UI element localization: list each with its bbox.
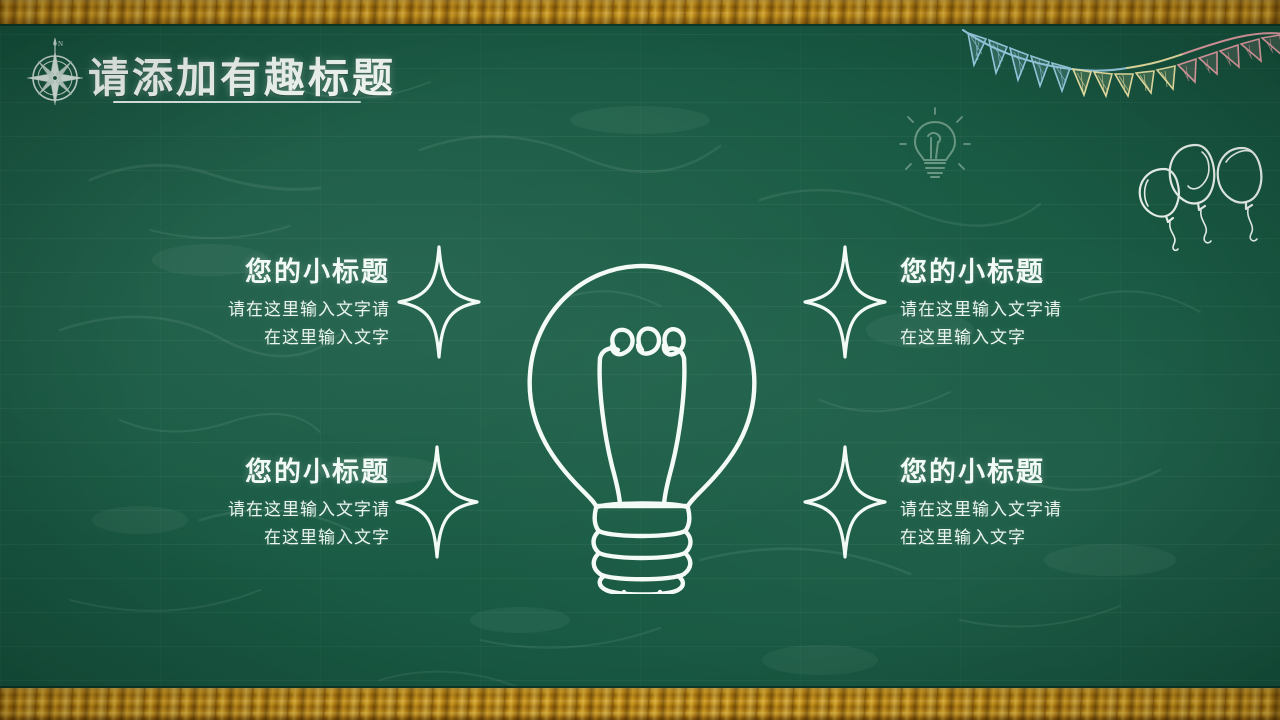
small-lightbulb-doodle-icon [898,106,972,182]
slide-canvas: N 请添加有趣标题 [0,0,1280,720]
block-body-line: 请在这里输入文字请 [900,496,1130,524]
lightbulb-icon [508,258,776,594]
svg-text:N: N [58,40,63,48]
block-heading: 您的小标题 [160,250,390,289]
title-underline [113,101,361,103]
bunting-flags-icon [955,22,1280,114]
block-heading: 您的小标题 [160,450,390,489]
text-block-bottom-right: 您的小标题 请在这里输入文字请 在这里输入文字 [900,450,1130,551]
text-block-bottom-left: 您的小标题 请在这里输入文字请 在这里输入文字 [160,450,390,551]
block-body-line: 请在这里输入文字请 [160,496,390,524]
page-title: 请添加有趣标题 [88,44,396,104]
compass-rose-icon: N [22,34,88,106]
block-heading: 您的小标题 [900,250,1130,289]
four-point-star-icon [802,244,888,360]
text-block-top-right: 您的小标题 请在这里输入文字请 在这里输入文字 [900,250,1130,351]
block-body-line: 在这里输入文字 [900,324,1130,352]
block-body-line: 请在这里输入文字请 [160,296,390,324]
block-body-line: 在这里输入文字 [160,324,390,352]
four-point-star-icon [802,444,888,560]
text-block-top-left: 您的小标题 请在这里输入文字请 在这里输入文字 [160,250,390,351]
block-body-line: 在这里输入文字 [160,524,390,552]
four-point-star-icon [396,244,482,360]
four-point-star-icon [394,444,480,560]
block-heading: 您的小标题 [900,450,1130,489]
wood-frame-bottom [0,686,1280,720]
block-body-line: 请在这里输入文字请 [900,296,1130,324]
block-body-line: 在这里输入文字 [900,524,1130,552]
balloons-icon [1118,128,1280,252]
